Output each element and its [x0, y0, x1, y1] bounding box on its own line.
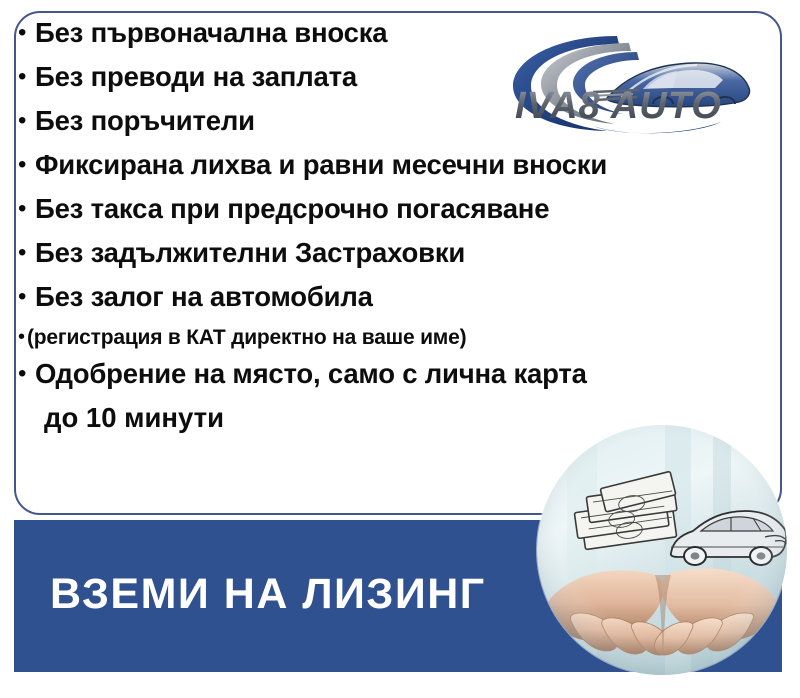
- list-item-label: Без поръчители: [35, 102, 255, 140]
- bullet-icon: •: [18, 362, 35, 386]
- list-item: • Одобрение на място, само с лична карта: [18, 355, 758, 393]
- list-item-label: Без такса при предсрочно погасяване: [35, 190, 549, 228]
- list-item: • Без залог на автомобила: [18, 278, 758, 316]
- bullet-icon: •: [18, 65, 35, 89]
- bullet-icon: •: [18, 109, 35, 133]
- hands-money-car-photo: [537, 425, 787, 675]
- bullet-icon: •: [18, 285, 35, 309]
- ivas-auto-logo: IVA8 AUTO: [497, 30, 755, 135]
- bullet-icon: •: [18, 153, 35, 177]
- list-item-label: (регистрация в КАТ директно на ваше име): [27, 322, 466, 353]
- bullet-icon: •: [18, 197, 35, 221]
- list-item-label: Без първоначална вноска: [35, 14, 387, 52]
- list-item-label: Фиксирана лихва и равни месечни вноски: [35, 146, 607, 184]
- poster-root: • Без първоначална вноска • Без преводи …: [0, 0, 800, 698]
- list-item-note: • (регистрация в КАТ директно на ваше им…: [18, 322, 758, 353]
- list-item-label: Без преводи на заплата: [35, 58, 357, 96]
- bullet-icon: •: [18, 21, 35, 45]
- bullet-icon: •: [18, 241, 35, 265]
- list-item-label: Без залог на автомобила: [35, 278, 373, 316]
- list-item-label: Без задължителни Застраховки: [35, 234, 465, 272]
- cta-banner-label: ВЗЕМИ НА ЛИЗИНГ: [50, 568, 570, 620]
- list-item-label: Одобрение на място, само с лична карта: [35, 355, 587, 393]
- logo-wordmark: IVA8 AUTO: [515, 85, 722, 127]
- bullet-icon: •: [18, 327, 27, 347]
- list-item: • Без такса при предсрочно погасяване: [18, 190, 758, 228]
- list-item: • Без задължителни Застраховки: [18, 234, 758, 272]
- list-item: • Фиксирана лихва и равни месечни вноски: [18, 146, 758, 184]
